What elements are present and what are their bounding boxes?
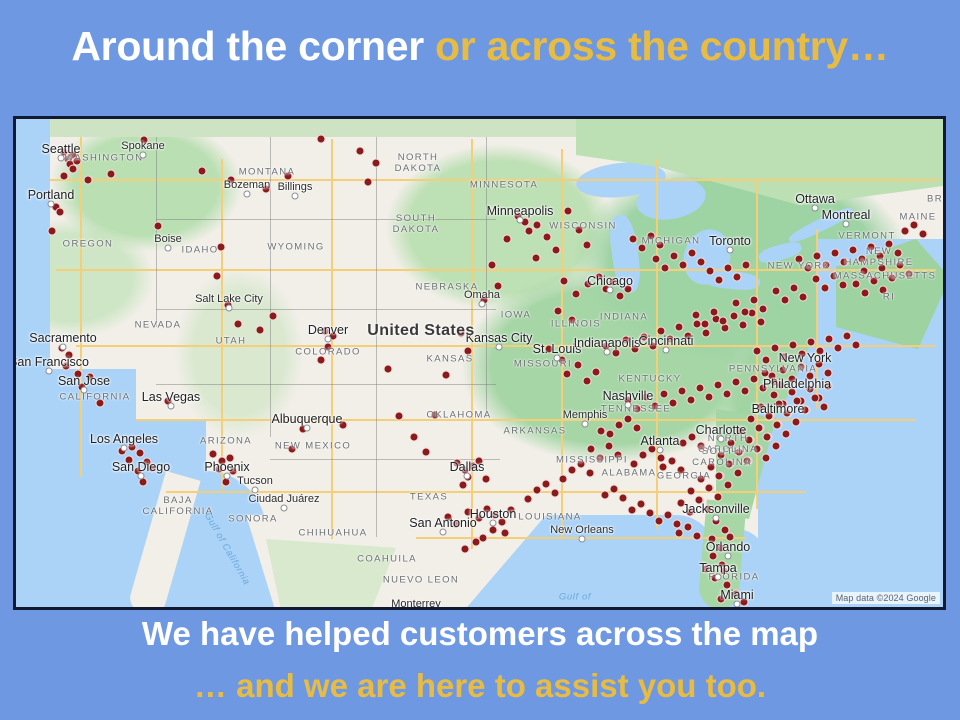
customer-marker[interactable] [140, 136, 149, 145]
customer-marker[interactable] [878, 264, 887, 273]
map-city-dot [579, 536, 586, 543]
customer-marker[interactable] [901, 227, 910, 236]
customer-marker[interactable] [317, 135, 326, 144]
customer-marker[interactable] [687, 487, 696, 496]
customer-marker[interactable] [637, 500, 646, 509]
customer-marker[interactable] [708, 535, 717, 544]
customer-marker[interactable] [234, 320, 243, 329]
customer-marker[interactable] [885, 240, 894, 249]
customer-marker[interactable] [453, 459, 462, 468]
customer-marker[interactable] [795, 255, 804, 264]
customer-marker[interactable] [563, 370, 572, 379]
customer-marker[interactable] [572, 290, 581, 299]
customer-marker[interactable] [677, 499, 686, 508]
customer-marker[interactable] [919, 230, 928, 239]
customer-marker[interactable] [410, 433, 419, 442]
customer-marker[interactable] [761, 369, 770, 378]
customer-marker[interactable] [770, 391, 779, 400]
customer-marker[interactable] [624, 415, 633, 424]
customer-marker[interactable] [822, 261, 831, 270]
customer-marker[interactable] [717, 595, 726, 604]
customer-marker[interactable] [619, 494, 628, 503]
customer-marker[interactable] [384, 365, 393, 374]
customer-marker[interactable] [209, 450, 218, 459]
customer-marker[interactable] [664, 511, 673, 520]
customer-marker[interactable] [687, 396, 696, 405]
customer-marker[interactable] [679, 261, 688, 270]
customer-marker[interactable] [831, 249, 840, 258]
customer-marker[interactable] [747, 415, 756, 424]
customer-marker[interactable] [692, 311, 701, 320]
customer-marker[interactable] [732, 590, 741, 599]
map-city-dot [138, 473, 145, 480]
customer-marker[interactable] [771, 344, 780, 353]
customer-marker[interactable] [648, 445, 657, 454]
customer-marker[interactable] [839, 281, 848, 290]
customer-marker[interactable] [552, 246, 561, 255]
customer-marker[interactable] [705, 484, 714, 493]
customer-marker[interactable] [879, 286, 888, 295]
customer-marker[interactable] [824, 382, 833, 391]
customer-marker[interactable] [715, 276, 724, 285]
customer-marker[interactable] [707, 463, 716, 472]
customer-marker[interactable] [697, 475, 706, 484]
customer-marker[interactable] [743, 457, 752, 466]
customer-marker[interactable] [697, 258, 706, 267]
customer-marker[interactable] [125, 456, 134, 465]
customer-marker[interactable] [843, 332, 852, 341]
customer-marker[interactable] [753, 445, 762, 454]
customer-marker[interactable] [284, 172, 293, 181]
customer-marker[interactable] [639, 451, 648, 460]
customer-marker[interactable] [597, 427, 606, 436]
customer-marker[interactable] [610, 485, 619, 494]
customer-marker[interactable] [688, 433, 697, 442]
customer-marker[interactable] [56, 208, 65, 217]
customer-marker[interactable] [660, 390, 669, 399]
map-city-dot [121, 445, 128, 452]
map-city-dot [58, 155, 65, 162]
customer-marker[interactable] [693, 532, 702, 541]
customer-marker[interactable] [724, 481, 733, 490]
map-city-dot [582, 421, 589, 428]
customer-marker[interactable] [583, 241, 592, 250]
map-city-dot [48, 201, 55, 208]
customer-marker[interactable] [733, 273, 742, 282]
customer-marker[interactable] [763, 433, 772, 442]
customer-marker[interactable] [742, 261, 751, 270]
customer-marker[interactable] [816, 347, 825, 356]
customer-marker[interactable] [675, 529, 684, 538]
customer-marker[interactable] [840, 258, 849, 267]
customer-marker[interactable] [745, 436, 754, 445]
customer-marker[interactable] [670, 252, 679, 261]
customer-marker[interactable] [154, 222, 163, 231]
customer-marker[interactable] [74, 370, 83, 379]
customer-marker[interactable] [759, 384, 768, 393]
map-city-dot [252, 487, 259, 494]
customer-marker[interactable] [652, 255, 661, 264]
customer-marker[interactable] [723, 390, 732, 399]
customer-marker[interactable] [825, 335, 834, 344]
customer-marker[interactable] [464, 347, 473, 356]
customer-marker[interactable] [84, 176, 93, 185]
customer-marker[interactable] [715, 472, 724, 481]
customer-marker[interactable] [256, 326, 265, 335]
customer-marker[interactable] [734, 469, 743, 478]
customer-marker[interactable] [792, 418, 801, 427]
customer-marker[interactable] [750, 375, 759, 384]
customer-marker[interactable] [532, 254, 541, 263]
customer-marker[interactable] [709, 552, 718, 561]
customer-marker[interactable] [788, 388, 797, 397]
customer-marker[interactable] [824, 369, 833, 378]
page-title: Around the corner or across the country… [0, 24, 960, 69]
customer-marker[interactable] [595, 273, 604, 282]
customer-marker[interactable] [452, 520, 461, 529]
customer-marker[interactable] [616, 292, 625, 301]
customer-marker[interactable] [533, 221, 542, 230]
customer-marker[interactable] [640, 333, 649, 342]
customer-marker[interactable] [688, 249, 697, 258]
customer-marker[interactable] [740, 598, 749, 607]
customer-marker[interactable] [781, 296, 790, 305]
customer-marker[interactable] [750, 296, 759, 305]
road-i75 [756, 179, 758, 509]
customer-marker[interactable] [719, 317, 728, 326]
customer-marker[interactable] [262, 185, 271, 194]
customer-marker[interactable] [762, 454, 771, 463]
customer-marker[interactable] [501, 529, 510, 538]
customer-marker[interactable] [704, 505, 713, 514]
customer-marker[interactable] [638, 244, 647, 253]
customer-marker[interactable] [661, 264, 670, 273]
customer-marker[interactable] [770, 378, 779, 387]
customer-marker[interactable] [812, 275, 821, 284]
customer-marker[interactable] [606, 430, 615, 439]
customer-marker[interactable] [339, 421, 348, 430]
customer-marker[interactable] [317, 356, 326, 365]
customer-marker[interactable] [575, 226, 584, 235]
customer-marker[interactable] [657, 454, 666, 463]
map-city-dot [496, 344, 503, 351]
map-city-dot [663, 347, 670, 354]
customer-marker[interactable] [524, 495, 533, 504]
customer-marker[interactable] [213, 272, 222, 281]
customer-marker[interactable] [741, 308, 750, 317]
customer-marker[interactable] [422, 448, 431, 457]
headline-gold-part: or across the country… [435, 23, 889, 69]
customer-marker[interactable] [503, 235, 512, 244]
customer-marker[interactable] [789, 341, 798, 350]
customer-marker[interactable] [779, 366, 788, 375]
customer-marker[interactable] [737, 427, 746, 436]
customer-marker[interactable] [564, 207, 573, 216]
customer-marker[interactable] [464, 508, 473, 517]
customer-marker[interactable] [545, 345, 554, 354]
customer-marker[interactable] [772, 287, 781, 296]
customer-marker[interactable] [772, 442, 781, 451]
customer-marker[interactable] [69, 165, 78, 174]
customer-marker[interactable] [725, 460, 734, 469]
customer-marker[interactable] [806, 372, 815, 381]
customer-marker[interactable] [461, 545, 470, 554]
customer-marker[interactable] [442, 371, 451, 380]
customer-marker[interactable] [612, 349, 621, 358]
caption-line-2: … and we are here to assist you too. [0, 668, 960, 705]
customer-marker[interactable] [860, 267, 869, 276]
customer-marker[interactable] [584, 280, 593, 289]
customer-marker[interactable] [820, 403, 829, 412]
customer-marker[interactable] [793, 397, 802, 406]
customer-marker[interactable] [735, 448, 744, 457]
customer-marker[interactable] [583, 377, 592, 386]
customer-marker[interactable] [586, 469, 595, 478]
customer-marker[interactable] [107, 170, 116, 179]
customer-marker[interactable] [801, 406, 810, 415]
customer-marker[interactable] [498, 518, 507, 527]
customer-marker[interactable] [656, 241, 665, 250]
customer-marker[interactable] [628, 506, 637, 515]
map-city-dot [727, 247, 734, 254]
customer-marker[interactable] [782, 430, 791, 439]
customer-marker[interactable] [587, 445, 596, 454]
customer-marker[interactable] [559, 475, 568, 484]
customer-marker[interactable] [227, 176, 236, 185]
customer-marker[interactable] [732, 299, 741, 308]
customer-marker[interactable] [675, 323, 684, 332]
customer-marker[interactable] [666, 335, 675, 344]
customer-marker[interactable] [714, 381, 723, 390]
customer-marker[interactable] [568, 316, 577, 325]
customer-marker[interactable] [629, 235, 638, 244]
customer-marker[interactable] [723, 581, 732, 590]
road-i15 [221, 159, 223, 489]
customer-marker[interactable] [395, 412, 404, 421]
customer-marker[interactable] [622, 336, 631, 345]
map-city-dot [812, 205, 819, 212]
map-canvas[interactable]: WASHINGTONOREGONIDAHOMONTANANORTHDAKOTAS… [16, 119, 943, 607]
customer-marker[interactable] [788, 375, 797, 384]
customer-marker[interactable] [533, 486, 542, 495]
customer-marker[interactable] [560, 277, 569, 286]
customer-marker[interactable] [684, 332, 693, 341]
customer-marker[interactable] [633, 405, 642, 414]
customer-marker[interactable] [732, 378, 741, 387]
customer-marker[interactable] [659, 463, 668, 472]
customer-marker[interactable] [790, 284, 799, 293]
state-border-6 [156, 309, 496, 310]
customer-marker[interactable] [614, 451, 623, 460]
customer-marker[interactable] [577, 460, 586, 469]
customer-marker[interactable] [858, 255, 867, 264]
customer-marker[interactable] [753, 347, 762, 356]
customer-marker[interactable] [444, 513, 453, 522]
state-border-4 [486, 137, 487, 417]
customer-marker[interactable] [574, 361, 583, 370]
customer-marker[interactable] [706, 267, 715, 276]
customer-marker[interactable] [678, 387, 687, 396]
map-city-dot [46, 368, 53, 375]
customer-marker[interactable] [834, 344, 843, 353]
customer-marker[interactable] [642, 393, 651, 402]
customer-marker[interactable] [601, 491, 610, 500]
customer-marker[interactable] [813, 252, 822, 261]
customer-marker[interactable] [226, 454, 235, 463]
customer-marker[interactable] [852, 280, 861, 289]
customer-marker[interactable] [148, 464, 157, 473]
customer-marker[interactable] [215, 465, 224, 474]
customer-marker[interactable] [488, 261, 497, 270]
customer-marker[interactable] [551, 489, 560, 498]
customer-marker[interactable] [615, 421, 624, 430]
customer-marker[interactable] [542, 480, 551, 489]
customer-marker[interactable] [849, 246, 858, 255]
map-container[interactable]: WASHINGTONOREGONIDAHOMONTANANORTHDAKOTAS… [13, 116, 946, 610]
customer-marker[interactable] [507, 506, 516, 515]
customer-marker[interactable] [431, 411, 440, 420]
customer-marker[interactable] [489, 526, 498, 535]
customer-marker[interactable] [730, 312, 739, 321]
customer-marker[interactable] [679, 439, 688, 448]
customer-marker[interactable] [568, 466, 577, 475]
customer-marker[interactable] [905, 270, 914, 279]
customer-marker[interactable] [494, 282, 503, 291]
map-city-dot [554, 355, 561, 362]
customer-marker[interactable] [773, 421, 782, 430]
customer-marker[interactable] [780, 353, 789, 362]
map-attribution: Map data ©2024 Google [832, 592, 940, 604]
customer-marker[interactable] [62, 362, 71, 371]
customer-marker[interactable] [457, 329, 466, 338]
customer-marker[interactable] [646, 509, 655, 518]
customer-marker[interactable] [554, 307, 563, 316]
customer-marker[interactable] [910, 221, 919, 230]
customer-marker[interactable] [630, 460, 639, 469]
customer-marker[interactable] [702, 329, 711, 338]
customer-marker[interactable] [797, 363, 806, 372]
customer-marker[interactable] [624, 285, 633, 294]
customer-marker[interactable] [631, 345, 640, 354]
customer-marker[interactable] [697, 442, 706, 451]
customer-marker[interactable] [806, 385, 815, 394]
customer-marker[interactable] [633, 424, 642, 433]
customer-marker[interactable] [717, 544, 726, 553]
customer-marker[interactable] [695, 496, 704, 505]
customer-marker[interactable] [65, 351, 74, 360]
customer-marker[interactable] [288, 445, 297, 454]
customer-marker[interactable] [525, 227, 534, 236]
customer-marker[interactable] [705, 393, 714, 402]
customer-marker[interactable] [724, 264, 733, 273]
customer-marker[interactable] [472, 538, 481, 547]
customer-marker[interactable] [543, 233, 552, 242]
customer-marker[interactable] [894, 249, 903, 258]
customer-marker[interactable] [482, 475, 491, 484]
customer-marker[interactable] [714, 493, 723, 502]
customer-marker[interactable] [896, 261, 905, 270]
customer-marker[interactable] [815, 360, 824, 369]
customer-marker[interactable] [60, 172, 69, 181]
customer-marker[interactable] [198, 167, 207, 176]
customer-marker[interactable] [870, 277, 879, 286]
customer-marker[interactable] [596, 454, 605, 463]
customer-marker[interactable] [757, 403, 766, 412]
customer-marker[interactable] [741, 387, 750, 396]
customer-marker[interactable] [96, 399, 105, 408]
customer-marker[interactable] [475, 514, 484, 523]
customer-marker[interactable] [830, 272, 839, 281]
customer-marker[interactable] [804, 264, 813, 273]
customer-marker[interactable] [657, 327, 666, 336]
map-city-dot [715, 574, 722, 581]
customer-marker[interactable] [609, 278, 618, 287]
customer-marker[interactable] [739, 321, 748, 330]
customer-marker[interactable] [775, 400, 784, 409]
customer-marker[interactable] [726, 533, 735, 542]
customer-marker[interactable] [686, 508, 695, 517]
customer-marker[interactable] [647, 232, 656, 241]
customer-marker[interactable] [592, 368, 601, 377]
customer-marker[interactable] [701, 320, 710, 329]
customer-marker[interactable] [655, 517, 664, 526]
customer-marker[interactable] [136, 449, 145, 458]
customer-marker[interactable] [684, 523, 693, 532]
customer-marker[interactable] [48, 227, 57, 236]
customer-marker[interactable] [888, 274, 897, 283]
customer-marker[interactable] [605, 442, 614, 451]
customer-marker[interactable] [324, 343, 333, 352]
customer-marker[interactable] [459, 481, 468, 490]
customer-marker[interactable] [867, 243, 876, 252]
customer-marker[interactable] [702, 565, 711, 574]
customer-marker[interactable] [86, 373, 95, 382]
customer-marker[interactable] [811, 394, 820, 403]
map-city-dot [725, 553, 732, 560]
customer-marker[interactable] [852, 341, 861, 350]
customer-marker[interactable] [759, 305, 768, 314]
customer-marker[interactable] [475, 457, 484, 466]
customer-marker[interactable] [757, 318, 766, 327]
customer-marker[interactable] [861, 289, 870, 298]
customer-marker[interactable] [765, 412, 774, 421]
customer-marker[interactable] [673, 520, 682, 529]
customer-marker[interactable] [677, 466, 686, 475]
slide-root: Around the corner or across the country… [0, 0, 960, 720]
customer-marker[interactable] [668, 457, 677, 466]
customer-marker[interactable] [876, 252, 885, 261]
customer-marker[interactable] [710, 308, 719, 317]
customer-marker[interactable] [762, 356, 771, 365]
customer-marker[interactable] [755, 424, 764, 433]
customer-marker[interactable] [799, 293, 808, 302]
customer-marker[interactable] [217, 243, 226, 252]
customer-marker[interactable] [372, 159, 381, 168]
customer-marker[interactable] [807, 338, 816, 347]
customer-marker[interactable] [798, 350, 807, 359]
customer-marker[interactable] [356, 147, 365, 156]
customer-marker[interactable] [651, 402, 660, 411]
customer-marker[interactable] [649, 342, 658, 351]
customer-marker[interactable] [364, 178, 373, 187]
customer-marker[interactable] [696, 384, 705, 393]
customer-marker[interactable] [821, 284, 830, 293]
customer-marker[interactable] [669, 399, 678, 408]
customer-marker[interactable] [783, 409, 792, 418]
customer-marker[interactable] [727, 439, 736, 448]
customer-marker[interactable] [717, 451, 726, 460]
customer-marker[interactable] [269, 312, 278, 321]
